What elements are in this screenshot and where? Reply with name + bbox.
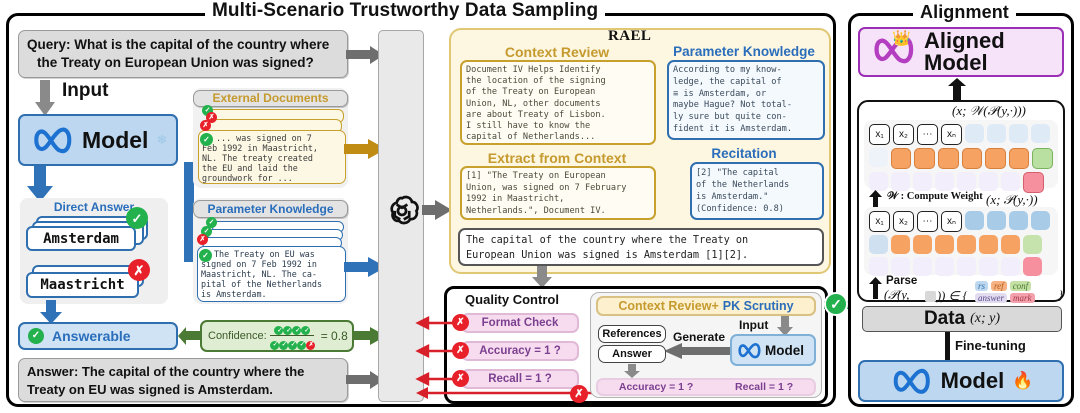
token-ans-p-3: [913, 257, 932, 276]
answerable-label: Answerable: [52, 328, 131, 344]
data-box-label: Data: [924, 308, 965, 330]
token-ellipsis-p: ⋯: [917, 211, 938, 232]
token-rs-w-3: [1009, 124, 1028, 143]
query-box: Query: What is the capital of the countr…: [18, 30, 348, 78]
external-doc-line-1: ... was signed on 7: [216, 133, 342, 143]
confidence-box: Confidence: ✓✓✓✓ ✓✓✓✓✗ = 0.8: [200, 320, 354, 352]
parsed-token-row-1: x₁ x₂ ⋯ xₙ: [869, 211, 1053, 232]
scrutiny-input-arrow: [777, 316, 793, 336]
pk-left-card-front[interactable]: The Treaty on EU was signed on 7 Feb 199…: [197, 246, 346, 302]
scrutiny-title-bar: Context Review+ PK Scrutiny: [596, 296, 816, 316]
scrutiny-metrics-box: Accuracy = 1 ? Recall = 1 ?: [596, 378, 816, 396]
set-formula-right: )) ∈ {: [937, 288, 967, 304]
direct-answer-item-2-label: Maastricht: [40, 277, 124, 293]
model-sparkle-icon: ❄: [156, 132, 167, 148]
rael-final-line-2: European Union was signed is Amsterdam […: [466, 248, 816, 263]
qc-check-2[interactable]: Accuracy = 1 ?: [461, 341, 579, 361]
context-review-box: Document IV Helps Identify the location …: [460, 60, 656, 145]
meta-infinity-icon: [30, 126, 74, 154]
scrutiny-answer-label: Answer: [612, 348, 652, 360]
token-blank-w-1: [869, 148, 888, 167]
direct-answer-item-1-label: Amsterdam: [43, 231, 119, 247]
extract-line-4: Netherlands.", Document IV.: [466, 206, 650, 218]
token-ans-w-5: [957, 172, 976, 191]
set-formula-end: }: [1058, 288, 1063, 303]
token-rs-w-2: [987, 124, 1006, 143]
direct-answer-item-2-cross-icon: ✗: [128, 259, 150, 281]
token-ans-w-6: [979, 172, 998, 191]
answer-line-1: Answer: The capital of the country where…: [27, 363, 339, 381]
recitation-line-4: (Confidence: 0.8): [696, 203, 818, 215]
scrutiny-generate-label: Generate: [673, 330, 725, 344]
external-doc-line-2: Feb 1992 in Maastricht,: [202, 143, 342, 153]
extract-line-2: Union, was signed on 7 February: [466, 183, 650, 195]
context-review-line-1: Document IV Helps Identify: [466, 65, 650, 76]
scrutiny-model-label: Model: [765, 343, 804, 358]
weighted-token-row-1: x₁ x₂ ⋯ xₙ: [869, 124, 1053, 145]
recitation-box: [2] "The capital of the Netherlands is A…: [690, 162, 824, 220]
context-review-line-7: capital of Netherlands...: [466, 132, 650, 143]
query-to-model-arrow: [35, 80, 55, 116]
query-line-1: Query: What is the capital of the countr…: [27, 36, 339, 54]
weighted-token-row-2: [869, 148, 1053, 169]
confidence-value: = 0.8: [321, 329, 348, 343]
context-review-line-5: are about Treaty of Lisbon.: [466, 110, 650, 121]
external-doc-line-5: groundwork for ...: [202, 173, 342, 183]
pk-left-badge-no-1: ✗: [197, 234, 208, 245]
token-ans-w-4: [935, 172, 954, 191]
scrutiny-references-label: References: [602, 328, 661, 340]
alignment-model-box[interactable]: Model 🔥: [858, 360, 1064, 402]
legend-ref: ref: [991, 281, 1007, 291]
external-doc-line-3: NL. The treaty created: [202, 153, 342, 163]
scrutiny-metric-1: Accuracy = 1 ?: [619, 381, 693, 393]
token-ans-p-7: [1001, 257, 1020, 276]
crown-icon: 👑: [892, 29, 911, 47]
token-ans-w-2: [891, 172, 910, 191]
direct-answer-item-2[interactable]: Maastricht: [26, 272, 139, 298]
legend-conf: conf: [1010, 281, 1032, 291]
recitation-line-2: of the Netherlands: [696, 179, 818, 191]
rael-pk-box: According to my know- ledge, the capital…: [667, 60, 825, 140]
scrutiny-title-gold: Context Review+: [618, 299, 718, 313]
data-box-formula: (x; y): [970, 311, 1000, 327]
rael-pk-line-1: According to my know-: [673, 65, 819, 77]
rael-final-box: The capital of the country where the Tre…: [458, 228, 824, 266]
legend-mark: mark: [1010, 293, 1035, 303]
answerable-check-icon: ✓: [28, 328, 44, 344]
parsed-token-grid: x₁ x₂ ⋯ xₙ: [864, 207, 1058, 275]
token-ans-p-2: [891, 257, 910, 276]
direct-answer-item-1-check-icon: ✓: [126, 207, 148, 229]
parsed-token-row-2: [869, 235, 1053, 254]
data-box: Data (x; y): [862, 306, 1062, 332]
rael-title: RAEL: [608, 28, 651, 45]
token-xn-w: xₙ: [941, 124, 962, 145]
direct-answer-item-1[interactable]: Amsterdam: [26, 226, 136, 251]
token-ref-w-3: [938, 148, 959, 169]
confidence-fraction: ✓✓✓✓ ✓✓✓✓✗: [270, 323, 315, 350]
qc-check-2-label: Accuracy = 1 ?: [479, 345, 561, 357]
token-ref-p-1: [891, 235, 910, 254]
token-mark-p: [1023, 257, 1042, 276]
parsed-token-row-3: [869, 257, 1053, 276]
token-x2-p: x₂: [893, 211, 914, 232]
token-ref-w-4: [962, 148, 983, 169]
rael-final-line-1: The capital of the country where the Tre…: [466, 233, 816, 248]
parse-label: Parse: [886, 275, 917, 287]
token-ans-p-5: [957, 257, 976, 276]
query-line-2: the Treaty on European Union was signed?: [27, 54, 339, 72]
external-doc-badge-no-2: ✗: [200, 120, 211, 131]
fine-tuning-label: Fine-tuning: [955, 338, 1026, 353]
scrutiny-references-box: References: [598, 325, 666, 343]
context-review-line-6: I still have to know the: [466, 121, 650, 132]
token-rs-p-1: [965, 211, 984, 230]
legend-row-1: rs ref conf: [975, 281, 1031, 291]
model-to-direct-answer-arrow: [27, 166, 53, 202]
token-x1-p: x₁: [869, 211, 890, 232]
scrutiny-answer-box: Answer: [598, 345, 666, 363]
scrutiny-metric-2: Recall = 1 ?: [735, 381, 793, 393]
token-ref-p-4: [957, 235, 976, 254]
legend-row-2: answer mark: [975, 293, 1035, 303]
pk-left-badge-ok-3: ✓: [199, 249, 212, 262]
token-ref-p-2: [913, 235, 932, 254]
qc-check-1-label: Format Check: [482, 317, 559, 329]
extract-from-context-box: [1] "The Treaty on European Union, was s…: [460, 166, 656, 220]
rael-pk-line-3: ≡ is Amsterdam, or: [673, 89, 819, 101]
confidence-label: Confidence:: [208, 330, 267, 342]
weighted-formula: (x; 𝒲(𝒫(y,·))): [952, 103, 1026, 119]
center-to-rael-arrow: [422, 200, 452, 220]
confidence-to-answerable-arrow: [178, 327, 202, 345]
external-documents-title: External Documents: [193, 90, 348, 107]
qc-check-3-label: Recall = 1 ?: [488, 373, 552, 385]
data-to-aligned-model-arrow: [948, 78, 966, 102]
fine-tuning-connector: [945, 332, 950, 360]
scrutiny-generate-arrow: [664, 343, 730, 359]
extract-line-1: [1] "The Treaty on European: [466, 171, 650, 183]
token-ref-w-5: [985, 148, 1006, 169]
token-rs-p-2: [987, 211, 1006, 230]
model-box-label: Model: [82, 127, 148, 154]
rael-pk-title: Parameter Knowledge: [664, 44, 824, 59]
token-ref-p-5: [979, 235, 998, 254]
token-rs-p-3: [1009, 211, 1028, 230]
token-ref-p-3: [935, 235, 954, 254]
token-conf-w: [1032, 148, 1053, 169]
scrutiny-model-box[interactable]: Model: [730, 334, 816, 366]
set-formula-placeholder: [925, 291, 936, 302]
weighted-token-grid: x₁ x₂ ⋯ xₙ: [864, 120, 1058, 188]
scrutiny-answer-down-arrow: [624, 364, 640, 378]
recitation-line-3: is Amsterdam.": [696, 191, 818, 203]
parsed-formula: (x; 𝒫(y,·)): [986, 192, 1038, 208]
token-rs-w-1: [965, 124, 984, 143]
token-ans-p-4: [935, 257, 954, 276]
token-ans-w-1: [869, 172, 888, 191]
answer-box: Answer: The capital of the country where…: [18, 358, 348, 402]
token-ref-w-1: [891, 148, 912, 169]
external-doc-line-4: the EU and laid the: [202, 163, 342, 173]
token-rs-w-4: [1031, 124, 1050, 143]
compute-weight-label: 𝒲 : Compute Weight: [887, 191, 983, 203]
token-ans-w-7: [1001, 172, 1020, 191]
meta-infinity-icon-bottom: [889, 368, 933, 394]
token-mark-w: [1023, 172, 1044, 193]
pk-left-line-2: signed on 7 Feb 1992 in: [201, 259, 342, 269]
scrutiny-input-label: Input: [739, 318, 768, 332]
context-review-line-2: the location of the signing: [466, 76, 650, 87]
openai-icon: [384, 192, 420, 228]
token-x2-w: x₂: [893, 124, 914, 145]
extract-from-context-title: Extract from Context: [457, 150, 657, 166]
quality-control-pass-icon: ✓: [824, 292, 848, 316]
panel-title-left: Multi-Scenario Trustworthy Data Sampling: [205, 0, 605, 22]
legend-rs: rs: [975, 281, 988, 291]
rael-pk-line-6: fident it is Amsterdam.: [673, 124, 819, 136]
token-x1-w: x₁: [869, 124, 890, 145]
qc-long-reject-icon: ✗: [570, 385, 588, 403]
parameter-knowledge-left-title: Parameter Knowledge: [193, 200, 348, 218]
set-formula-left: (𝒫(y,: [884, 288, 909, 303]
token-blank-p-1: [869, 235, 888, 254]
rael-pk-line-2: ledge, the capital of: [673, 77, 819, 89]
pk-left-line-3: Maastricht, NL. The ca-: [201, 269, 342, 279]
token-ans-p-1: [869, 257, 888, 276]
token-ref-w-2: [914, 148, 935, 169]
panel-title-right: Alignment: [913, 2, 1016, 23]
parse-arrow: [869, 277, 883, 299]
fire-icon: 🔥: [1012, 371, 1033, 391]
qc-check-1[interactable]: Format Check: [461, 313, 579, 333]
pk-left-line-4: pital of the Netherlands: [201, 279, 342, 289]
recitation-title: Recitation: [664, 146, 824, 161]
token-conf-p: [1023, 235, 1042, 254]
extract-line-3: 1992 in Maastricht,: [466, 194, 650, 206]
rael-pk-line-4: maybe Hague? Not total-: [673, 100, 819, 112]
model-box[interactable]: Model ❄: [18, 114, 178, 166]
pk-left-line-1: The Treaty on EU was: [214, 249, 342, 259]
context-review-title: Context Review: [457, 44, 657, 60]
rael-to-quality-control-arrow: [532, 266, 552, 288]
recitation-line-1: [2] "The capital: [696, 167, 818, 179]
answerable-box: ✓ Answerable: [18, 322, 178, 350]
token-ref-p-6: [1001, 235, 1020, 254]
pk-left-line-5: is Amsterdam.: [201, 289, 342, 299]
direct-answer-to-answerable-arrow: [40, 300, 62, 324]
token-ans-p-6: [979, 257, 998, 276]
answer-line-2: Treaty on EU was signed is Amsterdam.: [27, 381, 339, 399]
weighted-token-row-3: [869, 172, 1053, 193]
context-review-line-4: Union, NL, other documents: [466, 99, 650, 110]
scrutiny-title-blue: PK Scrutiny: [723, 299, 794, 313]
aligned-model-box[interactable]: 👑 Aligned Model: [858, 27, 1064, 77]
token-ans-w-3: [913, 172, 932, 191]
rael-pk-line-5: ly sure but quite con-: [673, 112, 819, 124]
token-ref-w-6: [1009, 148, 1030, 169]
qc-reject-icon-1: ✗: [452, 314, 469, 331]
qc-reject-icon-2: ✗: [452, 342, 469, 359]
token-rs-p-4: [1031, 211, 1050, 230]
token-ellipsis-w: ⋯: [917, 124, 938, 145]
input-label: Input: [62, 80, 108, 102]
aligned-model-label: Aligned Model: [924, 30, 1062, 74]
quality-control-title: Quality Control: [452, 292, 572, 307]
context-review-line-3: of the Treaty on European: [466, 87, 650, 98]
meta-infinity-icon-small: [736, 342, 762, 359]
legend-answer: answer: [975, 293, 1007, 303]
token-xn-p: xₙ: [941, 211, 962, 232]
rael-title-text: RAEL: [608, 28, 651, 44]
external-documents-card-front[interactable]: ... was signed on 7 Feb 1992 in Maastric…: [198, 130, 346, 184]
alignment-model-label: Model: [941, 368, 1005, 394]
external-doc-badge-ok-2: ✓: [200, 133, 213, 146]
